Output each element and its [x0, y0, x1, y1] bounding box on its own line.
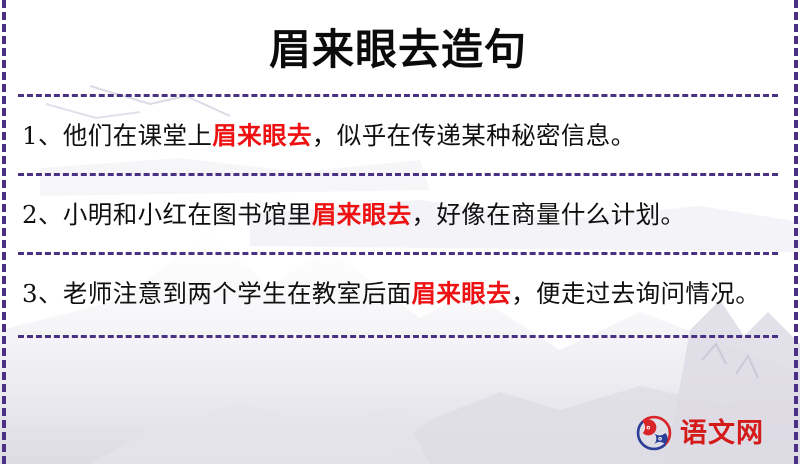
site-watermark: 语文网: [635, 414, 764, 452]
sentence-3-before: 老师注意到两个学生在教室后面: [63, 279, 412, 308]
sentence-3-keyword: 眉来眼去: [412, 279, 512, 308]
example-sentence-1: 1、他们在课堂上眉来眼去，似乎在传递某种秘密信息。: [18, 97, 778, 173]
sentence-2-index: 2、: [22, 200, 63, 229]
example-sentence-3: 3、老师注意到两个学生在教室后面眉来眼去，便走过去询问情况。: [18, 255, 778, 335]
sentence-1-keyword: 眉来眼去: [212, 121, 312, 150]
page-title: 眉来眼去造句: [18, 0, 778, 78]
sentence-3-after: ，便走过去询问情况。: [511, 279, 760, 308]
sentence-2-keyword: 眉来眼去: [312, 200, 412, 229]
example-sentence-2: 2、小明和小红在图书馆里眉来眼去，好像在商量什么计划。: [18, 176, 778, 252]
yinyang-fish-logo-icon: [635, 414, 673, 452]
divider-bottom: [18, 335, 778, 338]
sentence-1-before: 他们在课堂上: [63, 121, 212, 150]
worksheet-page: 眉来眼去造句 1、他们在课堂上眉来眼去，似乎在传递某种秘密信息。 2、小明和小红…: [0, 0, 800, 464]
right-dashed-border: [794, 0, 798, 464]
sentence-1-index: 1、: [22, 121, 63, 150]
sentence-1-after: ，似乎在传递某种秘密信息。: [312, 121, 636, 150]
worksheet-content: 眉来眼去造句 1、他们在课堂上眉来眼去，似乎在传递某种秘密信息。 2、小明和小红…: [0, 0, 800, 464]
watermark-text: 语文网: [680, 420, 764, 447]
sentence-2-before: 小明和小红在图书馆里: [63, 200, 312, 229]
left-dashed-border: [2, 0, 6, 464]
sentence-3-index: 3、: [22, 279, 63, 308]
sentence-2-after: ，好像在商量什么计划。: [412, 200, 686, 229]
